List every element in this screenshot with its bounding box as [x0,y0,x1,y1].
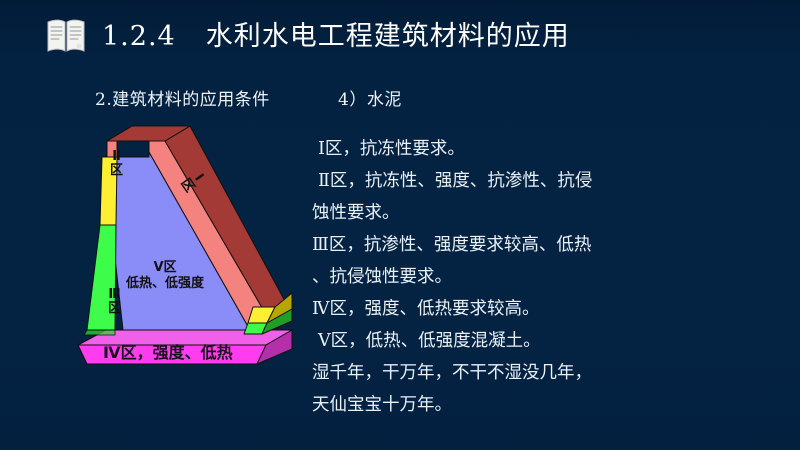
slide-canvas: 1.2.4 水利水电工程建筑材料的应用 2.建筑材料的应用条件 4）水泥 Ⅰ区，… [0,0,800,450]
slide-header: 1.2.4 水利水电工程建筑材料的应用 [46,18,570,54]
body-line: Ⅴ区，低热、低强度混凝土。 [312,325,662,357]
upstream-face-shadow [84,330,115,335]
zone-III-front-face [87,225,116,330]
body-line: 蚀性要求。 [312,197,662,229]
body-line: Ⅲ区，抗渗性、强度要求较高、低热 [312,229,662,261]
body-text-block: Ⅰ区，抗冻性要求。 Ⅱ区，抗冻性、强度、抗渗性、抗侵 蚀性要求。 Ⅲ区，抗渗性、… [312,133,662,421]
section-number: 1.2.4 [102,23,176,50]
concrete-dam-zone-diagram: Ⅱ 区 Ⅲ 区 Ⅰ 区 Ⅴ区 低热、低强度 Ⅳ区，强度、低热 [70,108,305,373]
subheader-right: 4）水泥 [338,85,402,110]
zone-I-crest-front [107,141,117,157]
zone-II-front-face [100,157,117,225]
page-title: 水利水电工程建筑材料的应用 [206,23,570,50]
subheader-left: 2.建筑材料的应用条件 [95,85,270,110]
zone-IV-front-face [78,345,266,364]
body-line: Ⅱ区，抗冻性、强度、抗渗性、抗侵 [312,165,662,197]
open-book-icon [46,18,86,54]
body-line: 天仙宝宝十万年。 [312,389,662,421]
body-line: 湿千年，干万年，不干不湿没几年， [312,357,662,389]
body-line: 、抗侵蚀性要求。 [312,261,662,293]
body-line: Ⅰ区，抗冻性要求。 [312,133,662,165]
body-line: Ⅳ区，强度、低热要求较高。 [312,293,662,325]
